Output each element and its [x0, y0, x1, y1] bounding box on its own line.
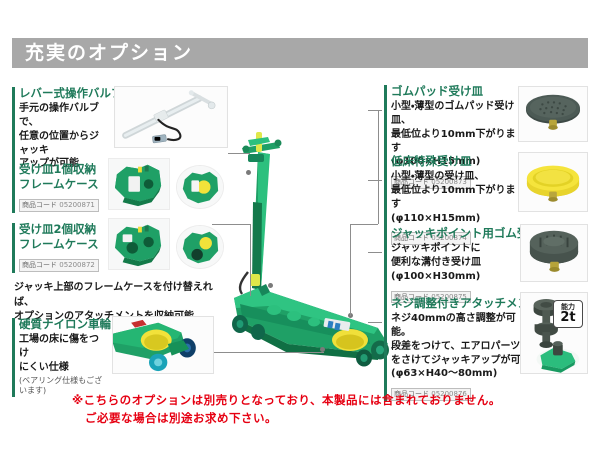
desc-line: (φ63×H40～80mm): [391, 367, 534, 381]
option-description: ジャッキポイントに 便利な溝付き受け皿 (φ100×H30mm): [391, 242, 534, 283]
desc-line: 工場の床に傷をつけ: [19, 333, 108, 361]
code-label: 商品コード: [22, 261, 57, 269]
option-title: レバー式操作バルブ: [19, 86, 108, 101]
option-block-lever-valve: レバー式操作バルブ 手元の操作バルブで、 任意の位置からジャッキ アップが可能: [12, 86, 108, 171]
option-text-nylon-caster: 硬質ナイロン車輪 工場の床に傷をつけ にくい仕様 (ベアリング仕様もございます): [12, 317, 108, 396]
connector-line: [212, 224, 250, 225]
option-description: ネジ40mmの高さ調整が可能。 段差をつけて、エアロパーツ等 をさけてジャッキア…: [391, 312, 534, 381]
connector-line: [350, 224, 378, 225]
capacity-value: 2t: [560, 311, 575, 325]
option-description: 手元の操作バルブで、 任意の位置からジャッキ アップが可能: [19, 102, 108, 171]
title-line: フレームケース: [19, 177, 108, 192]
rubber-pad-saucer-photo: [518, 86, 588, 142]
option-description: 小型・薄型の受け皿、 最低位より10mm下がります (φ110×H15mm): [391, 170, 520, 225]
warning-line-1: ※こちらのオプションは別売りとなっており、本製品には含まれておりません。: [72, 392, 572, 410]
option-title: 受け皿2個収納 フレームケース: [19, 222, 108, 252]
option-block-screw-adjust-attachment: ネジ調整付きアタッチメント ネジ40mmの高さ調整が可能。 段差をつけて、エアロ…: [384, 296, 534, 401]
desc-line: 段差をつけて、エアロパーツ等: [391, 340, 534, 354]
code-value: 05200871: [59, 201, 95, 209]
option-text-jack-point-saucer: ジャッキポイント用ゴム受け皿 ジャッキポイントに 便利な溝付き受け皿 (φ100…: [384, 226, 534, 303]
connector-line: [286, 352, 324, 353]
connector-line: [214, 352, 286, 353]
desc-line: 小型・薄型のゴムパッド受け皿、: [391, 100, 520, 128]
desc-line: 便利な溝付き受け皿: [391, 256, 534, 270]
page-title: 充実のオプション: [12, 44, 193, 63]
option-title: ゴムパッド受け皿: [391, 84, 520, 99]
frame-case-2-detail-photo: [176, 225, 224, 269]
desc-line: ジャッキポイントに: [391, 242, 534, 256]
option-title: 硬質ナイロン車輪: [19, 317, 108, 332]
frame-case-2-photo: [108, 218, 170, 270]
connector-line: [378, 110, 379, 224]
desc-line: 任意の位置からジャッキ: [19, 130, 108, 158]
product-code-badge: 商品コード 05200871: [19, 199, 99, 212]
option-block-frame-case-1: 受け皿1個収納 フレームケース 商品コード 05200871: [12, 162, 108, 212]
option-block-nylon-caster: 硬質ナイロン車輪 工場の床に傷をつけ にくい仕様 (ベアリング仕様もございます): [12, 317, 108, 396]
options-page: 充実のオプション レバー式操作バルブ 手元の操作バルブで、 任意の位置からジャッ…: [0, 0, 600, 450]
option-title: ジャッキポイント用ゴム受け皿: [391, 226, 534, 241]
frame-case-1-detail-photo: [176, 165, 224, 209]
desc-line: (φ100×H30mm): [391, 270, 534, 284]
code-label: 商品コード: [22, 201, 57, 209]
jack-point-rubber-saucer-photo: [520, 224, 588, 282]
desc-line: (φ110×H15mm): [391, 212, 520, 226]
low-profile-saucer-photo: [518, 152, 588, 212]
warning-line-2: ご必要な場合は別途お求め下さい。: [72, 410, 572, 428]
nylon-caster-photo: [112, 316, 214, 374]
option-title: 受け皿1個収納 フレームケース: [19, 162, 108, 192]
footer-warning: ※こちらのオプションは別売りとなっており、本製品には含まれておりません。 ご必要…: [72, 392, 572, 428]
connector-line: [368, 252, 382, 253]
connector-dot: [246, 170, 251, 175]
product-code-badge: 商品コード 05200872: [19, 259, 99, 272]
page-header-bar: 充実のオプション: [12, 38, 588, 68]
option-text-screw-adjust-attachment: ネジ調整付きアタッチメント ネジ40mmの高さ調整が可能。 段差をつけて、エアロ…: [384, 296, 534, 401]
option-description: 工場の床に傷をつけ にくい仕様: [19, 333, 108, 374]
connector-line: [250, 224, 251, 296]
desc-line: 最低位より10mm下がります: [391, 128, 520, 156]
option-block-jack-point-saucer: ジャッキポイント用ゴム受け皿 ジャッキポイントに 便利な溝付き受け皿 (φ100…: [384, 226, 534, 303]
green-floor-jack-illustration: [228, 92, 400, 380]
connector-line: [228, 153, 250, 154]
connector-line: [350, 224, 351, 316]
option-text-frame-case-1: 受け皿1個収納 フレームケース 商品コード 05200871: [12, 162, 108, 212]
option-block-frame-case-2: 受け皿2個収納 フレームケース 商品コード 05200872: [12, 222, 108, 272]
desc-line: 最低位より10mm下がります: [391, 184, 520, 212]
connector-dot: [268, 283, 273, 288]
option-title: 低床特殊受け皿: [391, 154, 520, 169]
connector-line: [368, 322, 382, 323]
option-text-frame-case-2: 受け皿2個収納 フレームケース 商品コード 05200872: [12, 222, 108, 272]
connector-line: [368, 110, 382, 111]
connector-line: [368, 180, 382, 181]
capacity-badge: 能力 2t: [553, 300, 583, 328]
desc-line: をさけてジャッキアップが可能: [391, 354, 534, 368]
title-line: 受け皿1個収納: [19, 162, 108, 177]
desc-line: にくい仕様: [19, 361, 108, 375]
desc-line: 手元の操作バルブで、: [19, 102, 108, 130]
desc-line: ネジ40mmの高さ調整が可能。: [391, 312, 534, 340]
paragraph-line: ジャッキ上部のフレームケースを付け替えれば、: [14, 281, 229, 310]
title-line: 受け皿2個収納: [19, 222, 108, 237]
option-text-lever-valve: レバー式操作バルブ 手元の操作バルブで、 任意の位置からジャッキ アップが可能: [12, 86, 108, 171]
code-value: 05200872: [59, 261, 95, 269]
frame-case-1-photo: [108, 158, 170, 210]
option-title: ネジ調整付きアタッチメント: [391, 296, 534, 311]
lever-valve-photo: [114, 86, 228, 148]
title-line: フレームケース: [19, 237, 108, 252]
desc-line: 小型・薄型の受け皿、: [391, 170, 520, 184]
